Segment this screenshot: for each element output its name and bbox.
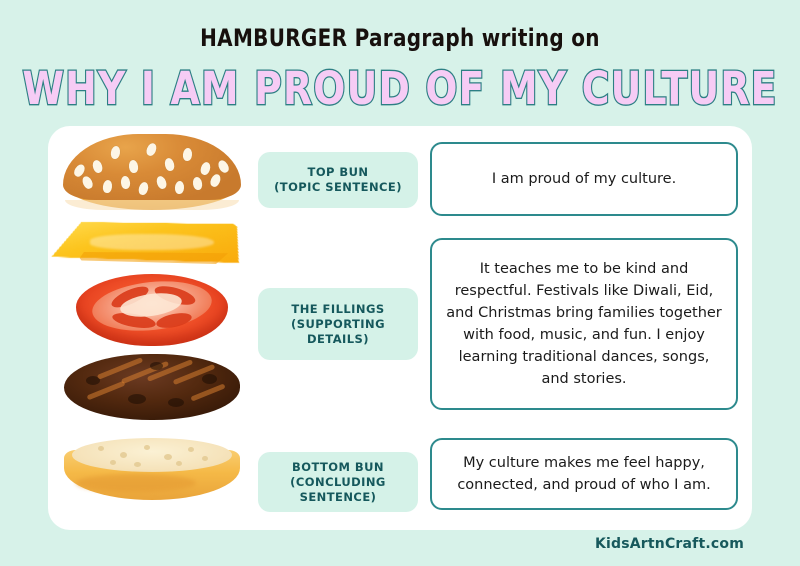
hamburger-cheese-icon — [68, 222, 236, 268]
label-fillings-text: THE FILLINGS (SUPPORTING DETAILS) — [291, 302, 385, 347]
label-top-bun-text: TOP BUN (TOPIC SENTENCE) — [274, 165, 402, 195]
card-rows: TOP BUN (TOPIC SENTENCE) THE FILLINGS (S… — [48, 126, 752, 530]
hamburger-paragraph-card: TOP BUN (TOPIC SENTENCE) THE FILLINGS (S… — [48, 126, 752, 530]
label-top-bun: TOP BUN (TOPIC SENTENCE) — [258, 152, 418, 208]
page-header: HAMBURGER Paragraph writing on WHY I AM … — [0, 0, 800, 103]
hamburger-patty-icon — [64, 354, 240, 426]
hamburger-top-bun-icon — [63, 134, 241, 212]
subtitle: HAMBURGER Paragraph writing on — [0, 26, 800, 50]
watermark: KidsArtnCraft.com — [595, 536, 744, 552]
supporting-details-text: It teaches me to be kind and respectful.… — [446, 258, 722, 390]
topic-sentence-text: I am proud of my culture. — [492, 168, 676, 190]
concluding-sentence-text: My culture makes me feel happy, connecte… — [446, 452, 722, 496]
label-bottom-bun-text: BOTTOM BUN (CONCLUDING SENTENCE) — [290, 460, 386, 505]
hamburger-illustration — [54, 126, 250, 530]
page-title: WHY I AM PROUD OF MY CULTURE — [0, 66, 800, 111]
label-fillings: THE FILLINGS (SUPPORTING DETAILS) — [258, 288, 418, 360]
label-bottom-bun: BOTTOM BUN (CONCLUDING SENTENCE) — [258, 452, 418, 512]
text-box-supporting-details[interactable]: It teaches me to be kind and respectful.… — [430, 238, 738, 410]
text-box-concluding-sentence[interactable]: My culture makes me feel happy, connecte… — [430, 438, 738, 510]
hamburger-tomato-icon — [76, 268, 228, 352]
text-box-topic-sentence[interactable]: I am proud of my culture. — [430, 142, 738, 216]
hamburger-bottom-bun-icon — [64, 436, 240, 506]
